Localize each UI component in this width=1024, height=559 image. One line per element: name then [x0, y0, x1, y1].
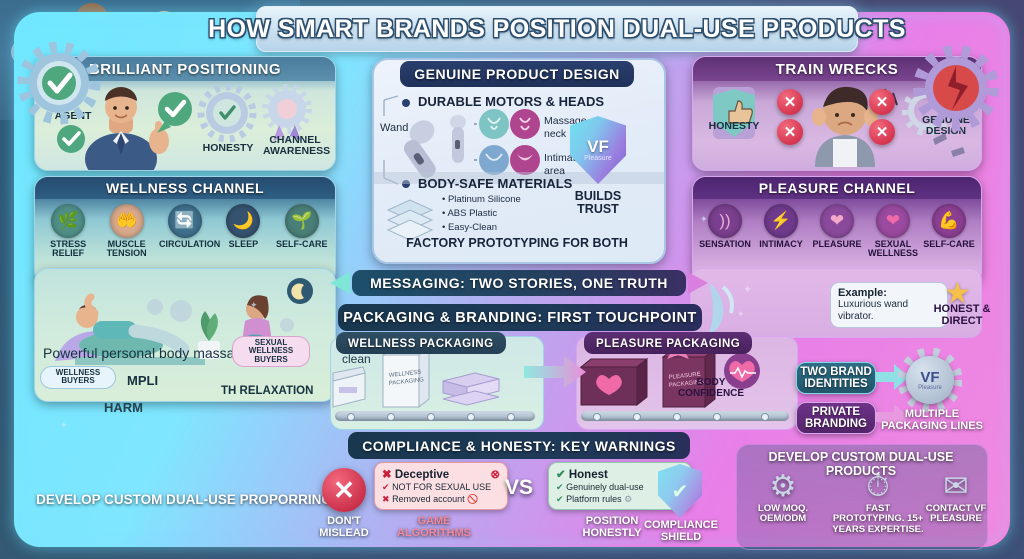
- dont-mislead-label: DON'T MISLEAD: [310, 516, 378, 540]
- wellness-label-1: MUSCLE TENSION: [101, 240, 153, 258]
- genuine-wand-label: Wand: [380, 122, 408, 136]
- wellness-label-0: STRESS RELIEF: [42, 240, 94, 258]
- compliance-shield-label: COMPLIANCE SHIELD: [642, 520, 720, 544]
- honest-title-text: Honest: [569, 469, 608, 481]
- multiple-packaging-lines-label: MULTIPLE PACKAGING LINES: [880, 408, 984, 432]
- card-deceptive-title: ✖ Deceptive ⊗: [382, 467, 500, 481]
- gear-decor-icons: [147, 299, 294, 332]
- brilliant-caption: BRILLIANT POSITIONING: [89, 61, 281, 78]
- band-packaging: PACKAGING & BRANDING: FIRST TOUCHPOINT: [338, 304, 702, 331]
- genuine-caption-pill: GENUINE PRODUCT DESIGN: [400, 61, 634, 87]
- gear-check-large-icon: [16, 40, 102, 126]
- heart-icon: ❤: [876, 204, 910, 238]
- wellness-caption: WELLNESS CHANNEL: [106, 180, 264, 196]
- cta-item-fast-prototyping[interactable]: ⏱ FAST PROTOTYPING. 15+ YEARS EXPERTISE.: [830, 472, 926, 535]
- deceptive-item-1: ✖ Removed account 🚫: [382, 494, 500, 506]
- vf-gear-brand: VF: [920, 370, 939, 385]
- packaging-transition-arrow-icon: [520, 346, 592, 396]
- page-title: HOW SMART BRANDS POSITION DUAL-USE PRODU…: [256, 6, 858, 52]
- wellness-item-circulation[interactable]: 🔄 CIRCULATION: [159, 204, 211, 249]
- wellness-packaging-caption: WELLNESS PACKAGING: [348, 338, 494, 350]
- pleasure-label-4: SELF-CARE: [923, 240, 975, 249]
- speech-check-icon: [157, 92, 192, 133]
- cta-item-1-label: FAST PROTOTYPING. 15+ YEARS EXPERTISE.: [830, 504, 926, 535]
- material-label-0: Platinum Silicone: [448, 194, 521, 205]
- crowd-caption: DEVELOP CUSTOM DUAL-USE PROPORRING: [34, 492, 334, 507]
- genuine-caption: GENUINE PRODUCT DESIGN: [414, 66, 619, 82]
- sparkle-decor-1: ✦: [250, 300, 258, 311]
- pleasure-item-pleasure[interactable]: ❤ PLEASURE: [811, 204, 863, 249]
- cta-item-0-label: LOW MOQ. OEM/ODM: [744, 504, 822, 525]
- vf-gear-badge: VF Pleasure: [906, 356, 954, 404]
- check-badge-icon: [57, 125, 85, 153]
- deceptive-item-0-text: NOT FOR SEXUAL USE: [392, 482, 491, 492]
- lilac-box-stack: [443, 373, 499, 405]
- lifestyle-word-1: MPLI: [127, 373, 158, 388]
- deceptive-item-0: ✔ NOT FOR SEXUAL USE: [382, 482, 500, 494]
- pleasure-item-self-care[interactable]: 💪 SELF-CARE: [923, 204, 975, 249]
- band-messaging-text: MESSAGING: TWO STORIES, ONE TRUTH: [370, 275, 668, 291]
- pleasure-label-1: INTIMACY: [755, 240, 807, 249]
- sound-wave-icon: )): [708, 204, 742, 238]
- wave-heart-icon: ❤: [820, 204, 854, 238]
- broken-gear-icon: [910, 42, 1002, 134]
- cta-item-contact[interactable]: ✉ CONTACT VF PLEASURE: [920, 472, 992, 525]
- wellness-label-2: CIRCULATION: [159, 240, 211, 249]
- chip-two-brand-identities[interactable]: TWO BRAND IDENTITIES: [796, 362, 876, 394]
- genuine-footer: FACTORY PROTOTYPING FOR BOTH: [372, 236, 662, 250]
- pleasure-item-sexual-wellness[interactable]: ❤ SEXUAL WELLNESS: [867, 204, 919, 258]
- wand-product-small-icon: [450, 115, 466, 163]
- deceptive-title-text: Deceptive: [395, 469, 449, 481]
- x-circle-icon-4: ✕: [869, 119, 895, 145]
- pleasure-packaging-caption: PLEASURE PACKAGING: [596, 338, 740, 350]
- bubble-sexual-wellness-buyers: SEXUAL WELLNESS BUYERS: [232, 336, 310, 367]
- lifestyle-word-3: TH RELAXATION: [221, 385, 313, 397]
- arrow-left-icon: [330, 272, 350, 294]
- band-compliance-text: COMPLIANCE & HONESTY: KEY WARNINGS: [362, 438, 676, 454]
- wellness-item-muscle-tension[interactable]: 🤲 MUSCLE TENSION: [101, 204, 153, 258]
- wellness-header: WELLNESS CHANNEL: [35, 177, 335, 199]
- page-title-text: HOW SMART BRANDS POSITION DUAL-USE PRODU…: [208, 15, 906, 44]
- honest-direct-label: HONEST & DIRECT: [932, 304, 992, 327]
- wellness-label-4: SELF-CARE: [276, 240, 328, 249]
- honest-item-0-text: Genuinely dual-use: [566, 482, 644, 492]
- moon-bubble-icon: [287, 278, 313, 304]
- genuine-heading-motors: DURABLE MOTORS & HEADS: [418, 94, 604, 109]
- body-confidence-label: BODY CONFIDENCE: [676, 378, 746, 399]
- builds-trust-label: BUILDS TRUST: [566, 190, 630, 216]
- pleasure-header: PLEASURE CHANNEL: [693, 177, 981, 199]
- game-algorithms-label: GAME ALGORITHMS: [388, 516, 480, 540]
- vf-shield-sub: Pleasure: [584, 155, 612, 162]
- pleasure-label-2: PLEASURE: [811, 240, 863, 249]
- example-title: Example:: [838, 287, 940, 299]
- hand-plant-icon: 🌱: [285, 204, 319, 238]
- band-messaging: MESSAGING: TWO STORIES, ONE TRUTH: [352, 270, 686, 296]
- brilliant-label-honesty: HONESTY: [199, 143, 257, 154]
- vf-shield-brand: VF: [587, 138, 609, 155]
- lightning-bolt-icon: ⚡: [764, 204, 798, 238]
- cta-item-2-label: CONTACT VF PLEASURE: [920, 504, 992, 525]
- x-circle-icon-2: ✕: [777, 119, 803, 145]
- cta-item-low-moq[interactable]: ⚙ LOW MOQ. OEM/ODM: [744, 472, 822, 525]
- wellness-packaging-caption-pill: WELLNESS PACKAGING: [336, 332, 506, 354]
- big-x-icon: ✕: [322, 468, 366, 512]
- pleasure-caption: PLEASURE CHANNEL: [759, 180, 916, 196]
- pleasure-item-sensation[interactable]: )) SENSATION: [699, 204, 751, 249]
- envelope-message-icon: ✉: [920, 472, 992, 502]
- bubble-wellness-buyers: WELLNESS BUYERS: [40, 366, 116, 389]
- infographic-canvas: HOW SMART BRANDS POSITION DUAL-USE PRODU…: [0, 0, 1024, 559]
- deceptive-item-1-text: Removed account: [392, 494, 465, 504]
- sparkle-decor-3: ✦: [700, 214, 708, 225]
- use-case-massage-icons: [474, 109, 540, 139]
- white-box-2: WELLNESS PACKAGING: [383, 347, 429, 407]
- genuine-material-0: • Platinum Silicone: [442, 194, 521, 206]
- lifestyle-word-2: HARM: [104, 400, 143, 415]
- vs-label: VS: [505, 476, 533, 500]
- chip-private-branding[interactable]: PRIVATE BRANDING: [796, 402, 876, 434]
- white-box-1: [333, 367, 365, 407]
- pleasure-item-intimacy[interactable]: ⚡ INTIMACY: [755, 204, 807, 249]
- wrecks-label-honesty: HONESTY: [699, 121, 769, 132]
- wellness-item-self-care[interactable]: 🌱 SELF-CARE: [276, 204, 328, 249]
- sparkle-decor-2: ✦: [60, 420, 68, 431]
- clean-label: clean: [342, 352, 371, 366]
- brilliant-label-channel-awareness: CHANNEL AWARENESS: [263, 135, 327, 157]
- conveyor-belt-pleasure: [581, 411, 789, 421]
- card-deceptive: ✖ Deceptive ⊗ ✔ NOT FOR SEXUAL USE ✖ Rem…: [374, 462, 508, 510]
- leaf-icon: 🌿: [51, 204, 85, 238]
- band-compliance: COMPLIANCE & HONESTY: KEY WARNINGS: [348, 432, 690, 459]
- genuine-material-2: • Easy-Clean: [442, 222, 497, 234]
- band-packaging-text: PACKAGING & BRANDING: FIRST TOUCHPOINT: [343, 310, 697, 326]
- svg-text:✦: ✦: [743, 284, 752, 296]
- wellness-item-sleep[interactable]: 🌙 SLEEP: [217, 204, 269, 249]
- svg-text:✦: ✦: [737, 309, 745, 319]
- panel-genuine-product-design: DURABLE MOTORS & HEADS Wand Massage neck…: [372, 58, 666, 264]
- conveyor-belt-wellness: [335, 411, 535, 421]
- use-case-intimate-icons: [474, 145, 540, 175]
- honest-item-1-text: Platform rules: [566, 494, 622, 504]
- example-body: Luxurious wand vibrator.: [838, 299, 940, 323]
- pleasure-label-3: SEXUAL WELLNESS: [867, 240, 919, 258]
- pleasure-packaging-caption-pill: PLEASURE PACKAGING: [584, 332, 752, 354]
- material-label-2: Easy-Clean: [448, 222, 497, 233]
- pleasure-label-0: SENSATION: [699, 240, 751, 249]
- material-label-1: ABS Plastic: [447, 208, 497, 219]
- gear-icon: ⚙: [744, 472, 822, 502]
- materials-stack-icon: [388, 200, 432, 240]
- arrow-right-icon: [688, 272, 708, 294]
- gear-check-icon: [201, 87, 253, 139]
- hands-massage-icon: 🤲: [110, 204, 144, 238]
- example-callout: Example: Luxurious wand vibrator.: [830, 282, 948, 328]
- wellness-label-3: SLEEP: [217, 240, 269, 249]
- wellness-icon-row: 🌿 STRESS RELIEF 🤲 MUSCLE TENSION 🔄 CIRCU…: [35, 199, 335, 258]
- lifestyle-quote: Powerful personal body massager.: [43, 345, 258, 361]
- moon-icon: 🌙: [226, 204, 260, 238]
- flex-muscle-check-icon: 💪: [932, 204, 966, 238]
- wellness-item-stress-relief[interactable]: 🌿 STRESS RELIEF: [42, 204, 94, 258]
- x-circle-icon-1: ✕: [777, 89, 803, 115]
- genuine-material-1: • ABS Plastic: [442, 208, 497, 220]
- x-circle-icon-3: ✕: [869, 89, 895, 115]
- pleasure-icon-row: )) SENSATION ⚡ INTIMACY ❤ PLEASURE ❤ SEX…: [693, 199, 981, 258]
- vf-gear-sub: Pleasure: [918, 385, 942, 391]
- genuine-heading-materials: BODY-SAFE MATERIALS: [418, 176, 572, 191]
- circulation-arrows-icon: 🔄: [168, 204, 202, 238]
- wrecks-caption: TRAIN WRECKS: [776, 61, 899, 78]
- clock-gear-icon: ⏱: [830, 472, 926, 502]
